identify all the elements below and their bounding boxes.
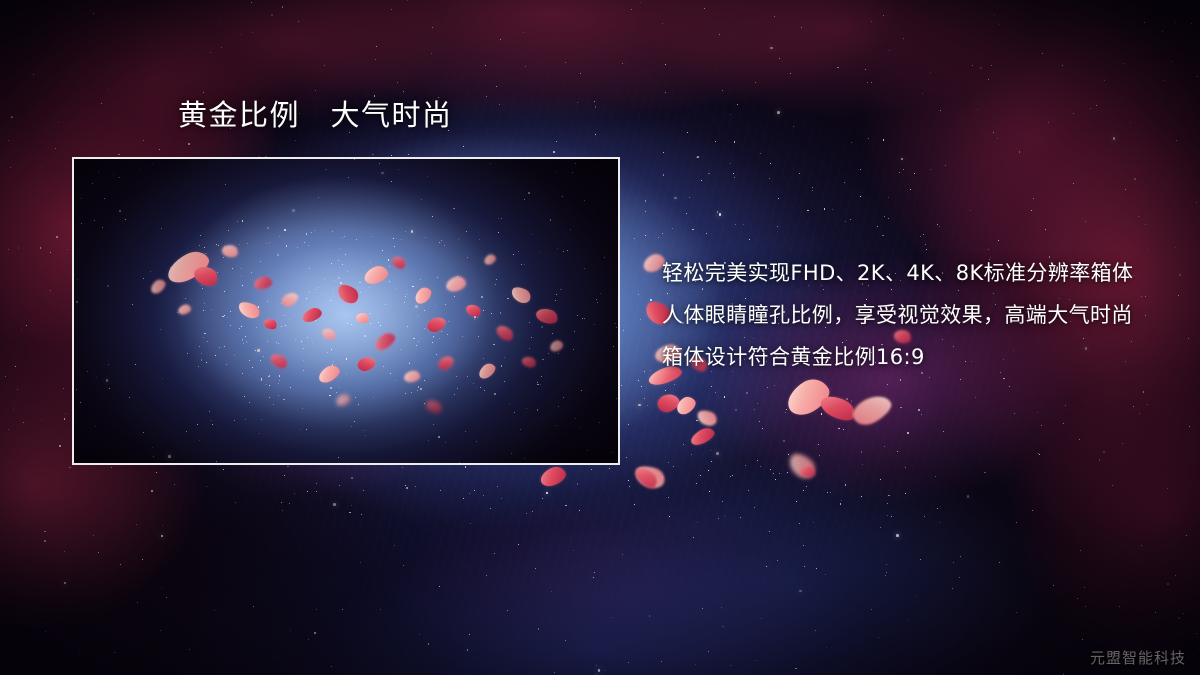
body-copy-line-3: 箱体设计符合黄金比例16:9 [662, 336, 1162, 378]
framed-vignette-overlay [74, 159, 618, 463]
body-copy-line-1: 轻松完美实现FHD、2K、4K、8K标准分辨率箱体 [662, 252, 1162, 294]
slide-canvas: 黄金比例 大气时尚 轻松完美实现FHD、2K、4K、8K标准分辨率箱体 人体眼睛… [0, 0, 1200, 675]
body-copy-block: 轻松完美实现FHD、2K、4K、8K标准分辨率箱体 人体眼睛瞳孔比例，享受视觉效… [662, 252, 1162, 378]
body-copy-line-2: 人体眼睛瞳孔比例，享受视觉效果，高端大气时尚 [662, 294, 1162, 336]
framed-image [72, 157, 620, 465]
framed-image-content [74, 159, 618, 463]
page-title: 黄金比例 大气时尚 [178, 99, 453, 131]
watermark-text: 元盟智能科技 [1090, 647, 1186, 668]
